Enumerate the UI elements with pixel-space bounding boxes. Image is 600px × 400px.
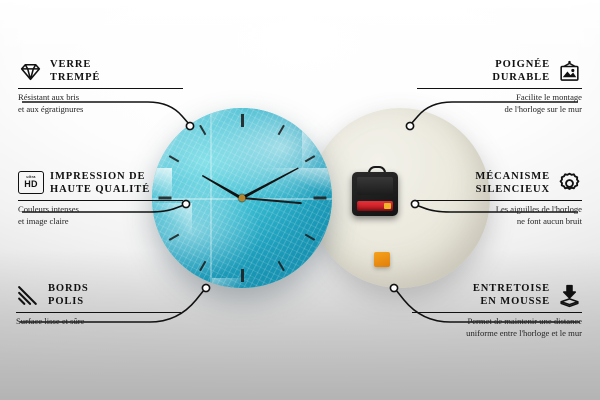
- feature-description: Facilite le montage de l'horloge sur le …: [417, 92, 582, 115]
- feature-bords-polis[interactable]: BORDS POLIS Surface lisse et sûre: [16, 282, 181, 328]
- feature-title: MÉCANISME SILENCIEUX: [475, 170, 550, 197]
- feature-divider: [18, 88, 183, 90]
- feature-title: BORDS POLIS: [48, 282, 89, 309]
- clock-center-cap: [239, 195, 246, 202]
- feature-header: ENTRETOISE EN MOUSSE: [412, 282, 582, 309]
- feature-poignee-durable[interactable]: POIGNÉE DURABLE Facilite le montage de l…: [417, 58, 582, 115]
- feature-header: BORDS POLIS: [16, 282, 181, 309]
- clock-tick: [241, 114, 244, 127]
- feature-header: POIGNÉE DURABLE: [417, 58, 582, 85]
- feature-header: MÉCANISME SILENCIEUX: [417, 170, 582, 197]
- feature-verre-trempe[interactable]: VERRE TREMPÉ Résistant aux bris et aux é…: [18, 58, 183, 115]
- foam-spacer-pad: [374, 252, 390, 267]
- feature-description: Surface lisse et sûre: [16, 316, 181, 327]
- feature-impression-haute-qualite[interactable]: ultra HD IMPRESSION DE HAUTE QUALITÉ Cou…: [18, 170, 183, 227]
- ultra-hd-badge-icon: ultra HD: [18, 171, 43, 196]
- diamond-icon: [18, 59, 43, 84]
- feature-divider: [417, 88, 582, 90]
- feature-mecanisme-silencieux[interactable]: MÉCANISME SILENCIEUX Les aiguilles de l'…: [417, 170, 582, 227]
- battery: [357, 201, 393, 211]
- feature-divider: [412, 312, 582, 314]
- mechanism-detail: [357, 177, 393, 195]
- mechanism-body: [352, 172, 398, 216]
- clock-tick: [313, 197, 326, 200]
- clock-mechanism: [352, 172, 398, 216]
- background-highlight: [0, 0, 600, 60]
- feature-entretoise-en-mousse[interactable]: ENTRETOISE EN MOUSSE Permet de maintenir…: [412, 282, 582, 339]
- polished-edges-icon: [16, 283, 41, 308]
- feature-description: Permet de maintenir une distance uniform…: [412, 316, 582, 339]
- clock-tick: [241, 269, 244, 282]
- feature-divider: [18, 200, 183, 202]
- feature-description: Les aiguilles de l'horloge ne font aucun…: [417, 204, 582, 227]
- foam-spacer-icon: [557, 283, 582, 308]
- feature-title: POIGNÉE DURABLE: [492, 58, 550, 85]
- feature-description: Résistant aux bris et aux égratignures: [18, 92, 183, 115]
- gear-icon: [557, 171, 582, 196]
- feature-divider: [417, 200, 582, 202]
- feature-title: IMPRESSION DE HAUTE QUALITÉ: [50, 170, 150, 197]
- feature-title: ENTRETOISE EN MOUSSE: [473, 282, 550, 309]
- infographic-stage: VERRE TREMPÉ Résistant aux bris et aux é…: [0, 0, 600, 400]
- feature-description: Couleurs intenses et image claire: [18, 204, 183, 227]
- picture-hanger-icon: [557, 59, 582, 84]
- feature-header: VERRE TREMPÉ: [18, 58, 183, 85]
- feature-header: ultra HD IMPRESSION DE HAUTE QUALITÉ: [18, 170, 183, 197]
- feature-divider: [16, 312, 181, 314]
- feature-title: VERRE TREMPÉ: [50, 58, 100, 85]
